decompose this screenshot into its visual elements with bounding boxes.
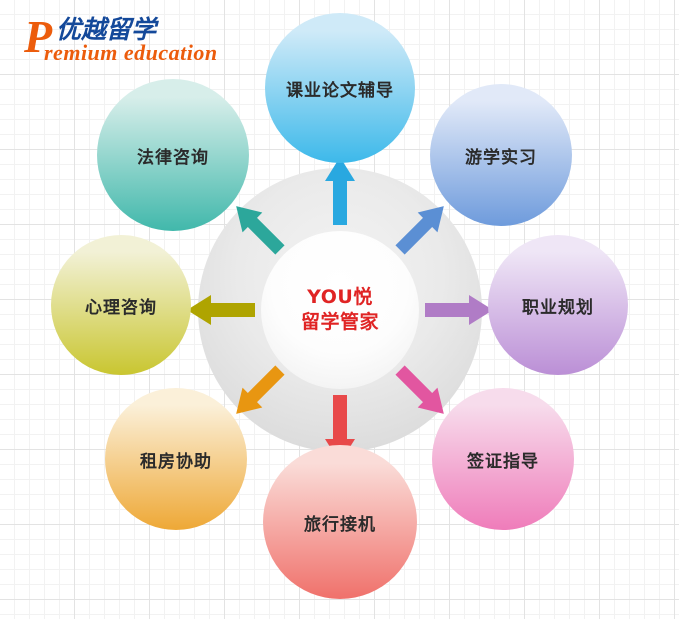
node-top-label: 课业论文辅导 xyxy=(286,76,394,101)
logo-chinese-name: 优越留学 xyxy=(56,16,156,43)
node-top-right-bubble[interactable]: 游学实习 xyxy=(430,84,572,226)
node-top-bubble[interactable]: 课业论文辅导 xyxy=(265,13,415,163)
node-top-right-label: 游学实习 xyxy=(465,143,537,168)
node-bottom-left-bubble[interactable]: 租房协助 xyxy=(105,388,247,530)
node-bottom-right-label: 签证指导 xyxy=(467,447,539,472)
node-right-bubble[interactable]: 职业规划 xyxy=(488,235,628,375)
node-bottom-left-label: 租房协助 xyxy=(140,447,212,472)
logo-english-name: remium education xyxy=(44,42,218,64)
node-top-left-bubble[interactable]: 法律咨询 xyxy=(97,79,249,231)
node-right-arrow xyxy=(425,295,493,325)
node-top-arrow xyxy=(325,157,355,225)
node-left-label: 心理咨询 xyxy=(85,293,157,318)
node-bottom-label: 旅行接机 xyxy=(304,510,376,535)
node-top-left-label: 法律咨询 xyxy=(137,143,209,168)
hub-label: YOU悦 留学管家 xyxy=(261,231,419,389)
node-bottom-right-bubble[interactable]: 签证指导 xyxy=(432,388,574,530)
hub-label-line2: 留学管家 xyxy=(301,310,379,335)
hub-label-line1: YOU悦 xyxy=(307,285,373,310)
node-bottom-bubble[interactable]: 旅行接机 xyxy=(263,445,417,599)
node-left-arrow xyxy=(187,295,255,325)
node-right-label: 职业规划 xyxy=(522,293,594,318)
diagram-canvas: P 优越留学 remium education YOU悦 留学管家 课业论文辅导… xyxy=(0,0,679,619)
node-left-bubble[interactable]: 心理咨询 xyxy=(51,235,191,375)
brand-logo: P 优越留学 remium education xyxy=(24,14,264,64)
